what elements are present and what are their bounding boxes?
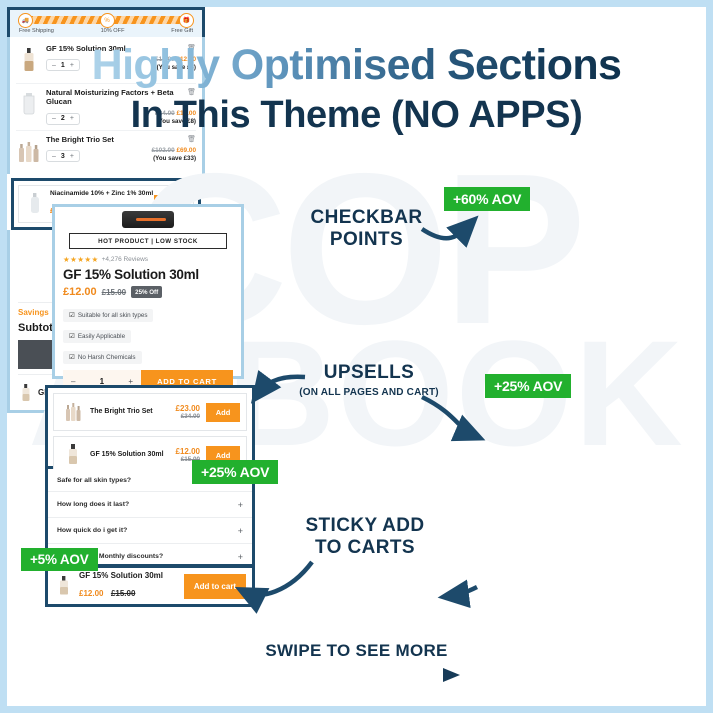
- faq-question: Safe for all skin types?: [57, 477, 131, 484]
- product-image: [55, 207, 241, 229]
- annotation-checkbar-line2: POINTS: [274, 229, 459, 251]
- page-title: Highly Optimised Sections In This Theme …: [7, 43, 706, 136]
- benefit-label: Easily Applicable: [78, 333, 125, 340]
- benefit-chip: ☑Easily Applicable: [63, 330, 131, 343]
- discount-badge: 25% Off: [131, 286, 162, 298]
- annotation-sticky-line2: TO CARTS: [270, 537, 460, 559]
- checkbar-section: 🚚 % 🎁 Free Shipping 10% OFF Free Gift: [7, 7, 205, 37]
- upsell-price-was: £34.00: [176, 413, 200, 420]
- sticky-add-to-cart-bar: GF 15% Solution 30ml £12.00 £15.00 Add t…: [45, 565, 255, 607]
- benefit-chip: ☑Suitable for all skin types: [63, 309, 153, 322]
- product-thumbnail-icon: [54, 573, 74, 599]
- check-icon: ☑: [69, 332, 75, 340]
- slide-frame: COP AYBOOK Highly Optimised Sections In …: [7, 7, 706, 706]
- benefit-label: Suitable for all skin types: [78, 312, 148, 319]
- faq-item[interactable]: How quick do i get it? +: [48, 518, 252, 544]
- faq-question: How long does it last?: [57, 501, 129, 508]
- plus-icon: +: [238, 552, 243, 562]
- annotation-sticky-line1: STICKY ADD: [270, 515, 460, 537]
- faq-question: How quick do i get it?: [57, 527, 127, 534]
- badge-aov-60: +60% AOV: [444, 187, 530, 211]
- badge-aov-25-left: +25% AOV: [192, 460, 278, 484]
- product-thumbnail-icon: [60, 399, 86, 425]
- annotation-upsells-sub: (ON ALL PAGES AND CART): [269, 387, 469, 398]
- title-line-2: In This Theme (NO APPS): [131, 96, 583, 136]
- sticky-add-to-cart-button[interactable]: Add to cart: [184, 574, 246, 599]
- annotation-checkbar: CHECKBAR POINTS: [274, 207, 459, 252]
- truck-icon: 🚚: [18, 13, 33, 28]
- upsell-price: £23.00 £34.00: [176, 404, 206, 420]
- upsell-list-left: The Bright Trio Set £23.00 £34.00 Add GF…: [45, 385, 255, 469]
- annotation-checkbar-line1: CHECKBAR: [274, 207, 459, 229]
- upsell-name: The Bright Trio Set: [86, 408, 176, 417]
- product-detail-card: HOT PRODUCT | LOW STOCK ★★★★★ +4,276 Rev…: [52, 204, 244, 379]
- sticky-product-name: GF 15% Solution 30ml: [79, 571, 184, 581]
- badge-aov-25-right: +25% AOV: [485, 374, 571, 398]
- upsell-price-now: £23.00: [176, 404, 200, 413]
- swipe-hint: SWIPE TO SEE MORE: [7, 641, 706, 661]
- plus-icon: +: [238, 526, 243, 536]
- benefit-chip: ☑No Harsh Chemicals: [63, 351, 142, 364]
- star-icon: ★★★★★: [63, 255, 99, 264]
- swipe-label: SWIPE TO SEE MORE: [7, 641, 706, 661]
- price-current: £12.00: [63, 286, 97, 298]
- benefit-label: No Harsh Chemicals: [78, 354, 136, 361]
- rating-row: ★★★★★ +4,276 Reviews: [63, 255, 233, 264]
- upsell-row[interactable]: The Bright Trio Set £23.00 £34.00 Add: [53, 393, 247, 431]
- price-row: £12.00 £15.00 25% Off: [63, 286, 233, 298]
- checkbar-labels: Free Shipping 10% OFF Free Gift: [18, 28, 194, 34]
- annotation-upsells-title: UPSELLS: [269, 362, 469, 384]
- annotation-upsells: UPSELLS (ON ALL PAGES AND CART): [269, 362, 469, 398]
- slide-canvas: COP AYBOOK Highly Optimised Sections In …: [7, 7, 706, 706]
- tag-icon: %: [100, 13, 115, 28]
- progress-bar: 🚚 % 🎁: [20, 16, 192, 24]
- cart-item-name: The Bright Trio Set: [46, 135, 118, 144]
- badge-aov-5: +5% AOV: [21, 548, 98, 571]
- check-icon: ☑: [69, 311, 75, 319]
- upsell-add-button[interactable]: Add: [206, 403, 240, 422]
- gift-icon: 🎁: [179, 13, 194, 28]
- stock-badge: HOT PRODUCT | LOW STOCK: [69, 233, 227, 249]
- sticky-prices: £12.00 £15.00: [79, 583, 184, 601]
- checkbar-label-3: Free Gift: [171, 28, 193, 34]
- upsell-price-now: £12.00: [176, 447, 200, 456]
- checkbar-label-2: 10% OFF: [101, 28, 125, 34]
- faq-item[interactable]: How long does it last? +: [48, 492, 252, 518]
- product-title: GF 15% Solution 30ml: [63, 267, 233, 282]
- annotation-sticky: STICKY ADD TO CARTS: [270, 515, 460, 560]
- sticky-price-now: £12.00: [79, 589, 103, 598]
- benefit-list: ☑Suitable for all skin types ☑Easily App…: [63, 304, 233, 367]
- upsell-name: GF 15% Solution 30ml: [86, 451, 176, 460]
- check-icon: ☑: [69, 353, 75, 361]
- review-count: +4,276 Reviews: [102, 256, 148, 263]
- title-line-1: Highly Optimised Sections: [92, 43, 622, 88]
- checkbar-label-1: Free Shipping: [19, 28, 54, 34]
- product-thumbnail-icon: [60, 442, 86, 468]
- price-original: £15.00: [102, 288, 126, 297]
- sticky-price-was: £15.00: [111, 589, 135, 598]
- plus-icon: +: [238, 500, 243, 510]
